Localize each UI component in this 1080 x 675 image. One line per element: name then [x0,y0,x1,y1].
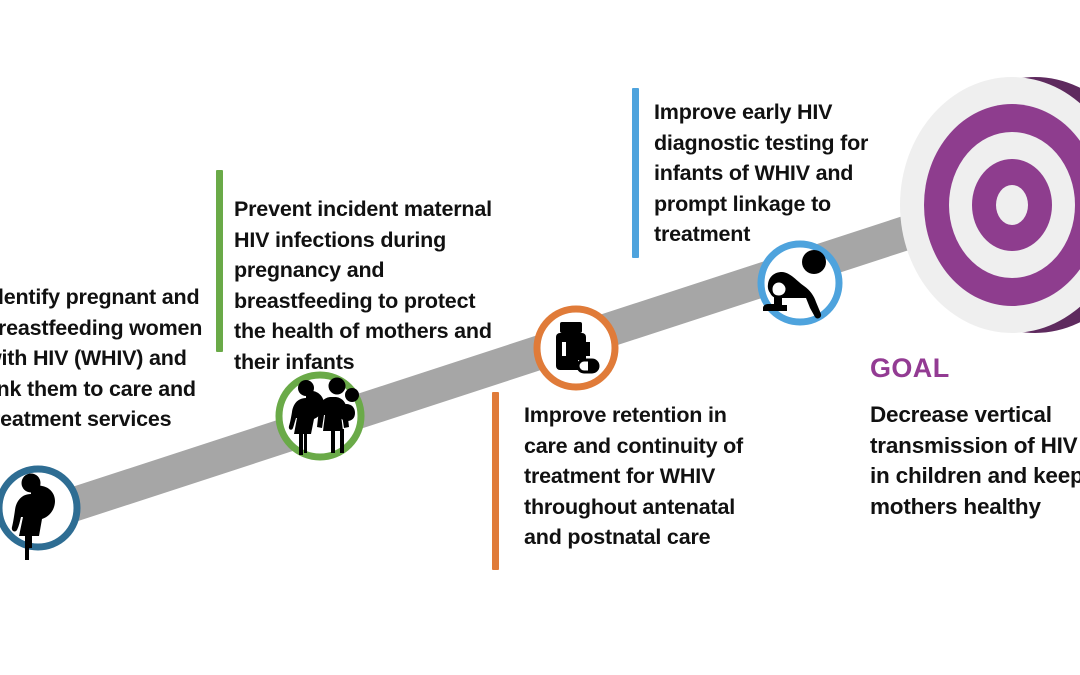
infographic-canvas: Identify pregnant and breastfeeding wome… [0,0,1080,675]
step-4-description: Improve early HIV diagnostic testing for… [654,97,884,250]
step-1-icon-circle [0,469,77,560]
step-2-description: Prevent incident maternal HIV infections… [234,194,502,377]
step-2-icon-circle [279,375,361,457]
step-1-description: Identify pregnant and breastfeeding wome… [0,282,215,435]
goal-heading: GOAL [870,352,950,384]
step-4-icon-circle [761,244,839,322]
step-3-description: Improve retention in care and continuity… [524,400,764,553]
goal-description: Decrease vertical transmission of HIV in… [870,400,1080,522]
step-2-accent-bar [216,170,223,352]
step-4-accent-bar [632,88,639,258]
step-3-icon-circle [537,309,615,387]
bullseye-target-icon [900,77,1080,333]
step-3-accent-bar [492,392,499,570]
